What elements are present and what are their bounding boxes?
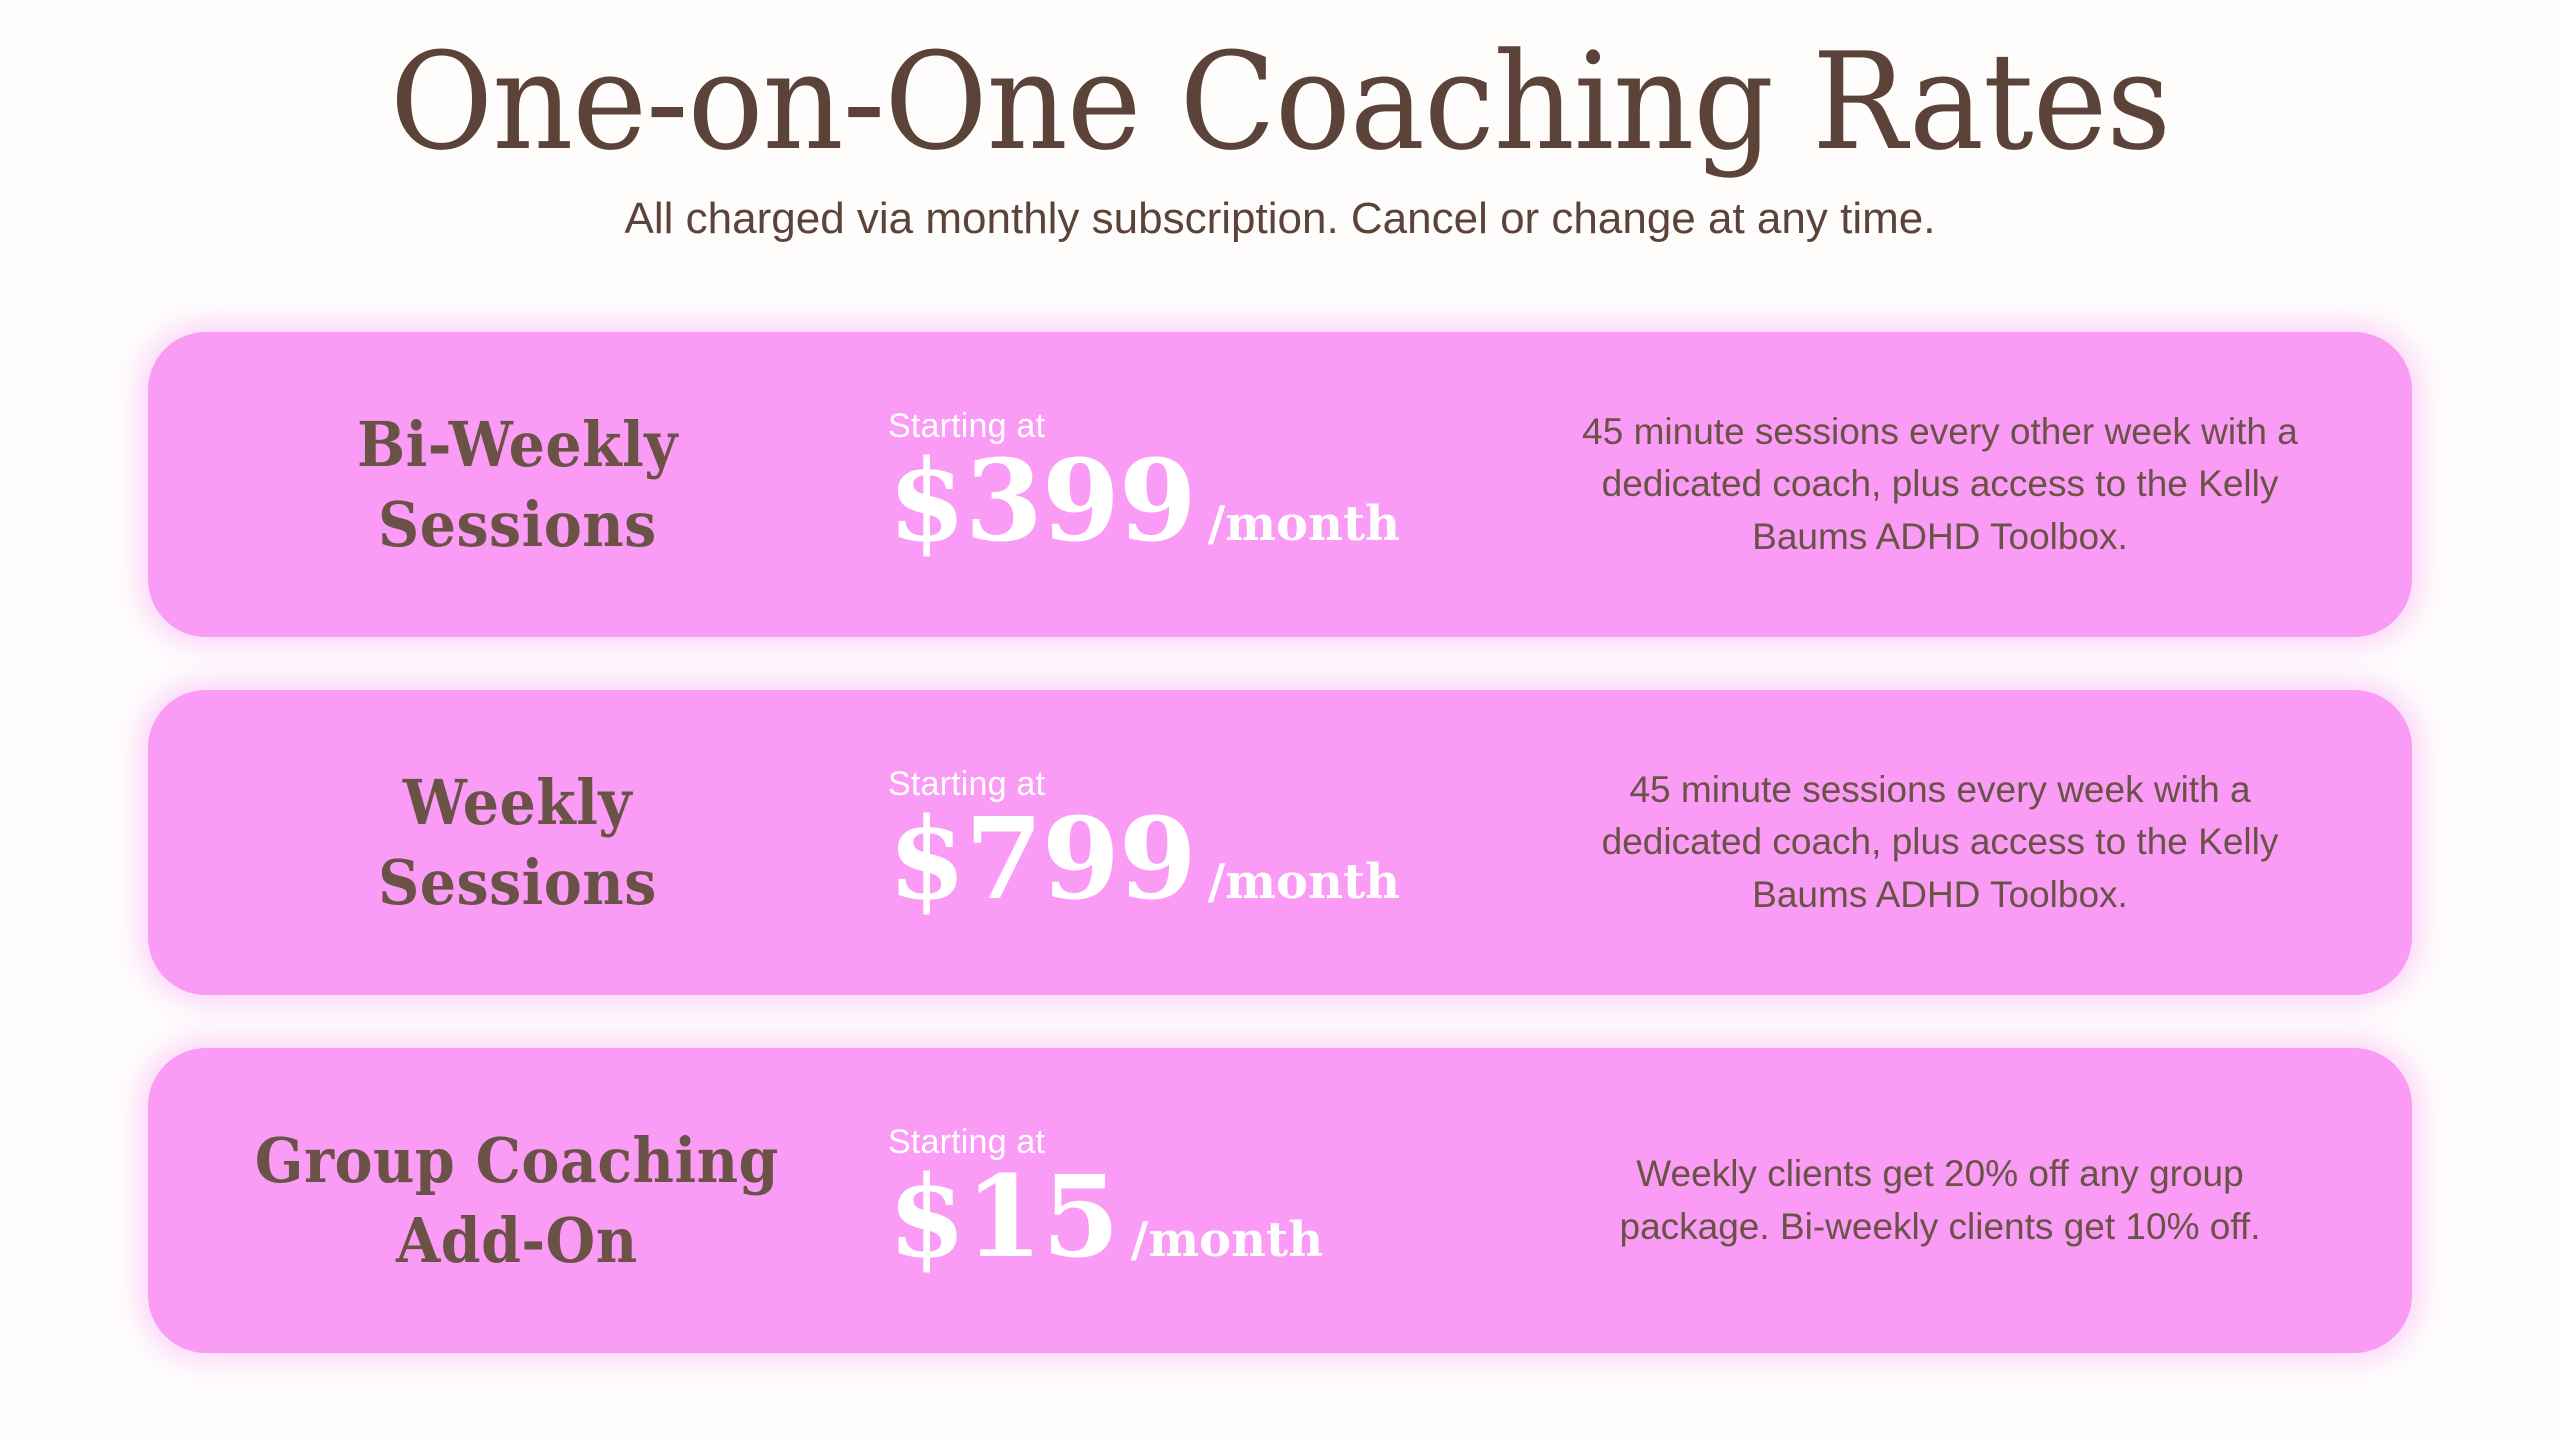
plan-description: Weekly clients get 20% off any group pac… [1560,1148,2320,1253]
plan-price-column: Starting at $799 /month [852,767,1528,917]
page-title: One-on-One Coaching Rates [77,34,2483,171]
price-period: /month [1208,500,1400,548]
plan-description-column: 45 minute sessions every week with a ded… [1528,764,2386,922]
plan-description-column: Weekly clients get 20% off any group pac… [1528,1148,2386,1253]
page-subtitle: All charged via monthly subscription. Ca… [0,193,2560,246]
price-row: $15 /month [888,1161,1528,1275]
price-period: /month [1131,1216,1323,1264]
plan-description: 45 minute sessions every other week with… [1560,406,2320,564]
plan-price-column: Starting at $399 /month [852,409,1528,559]
page-header: One-on-One Coaching Rates All charged vi… [0,0,2560,245]
plan-description-column: 45 minute sessions every other week with… [1528,406,2386,564]
plan-name-column: Group Coaching Add-On [174,1121,852,1280]
plan-name-column: Weekly Sessions [174,763,852,922]
plan-name: Bi-Weekly Sessions [357,405,678,564]
price-row: $799 /month [888,803,1528,917]
pricing-card[interactable]: Bi-Weekly Sessions Starting at $399 /mon… [148,332,2412,637]
plan-name-line-2: Sessions [378,846,657,919]
pricing-page: One-on-One Coaching Rates All charged vi… [0,0,2560,1440]
price-amount: $399 [888,445,1196,559]
plan-description: 45 minute sessions every week with a ded… [1560,764,2320,922]
price-row: $399 /month [888,445,1528,559]
plan-price-column: Starting at $15 /month [852,1125,1528,1275]
plan-name-line-1: Group Coaching [255,1124,779,1197]
price-amount: $15 [888,1161,1119,1275]
price-period: /month [1208,858,1400,906]
plan-name-line-1: Bi-Weekly [357,408,678,481]
plan-name: Group Coaching Add-On [255,1121,779,1280]
pricing-card[interactable]: Group Coaching Add-On Starting at $15 /m… [148,1048,2412,1353]
plan-name-line-2: Add-On [396,1204,638,1277]
plan-name-line-2: Sessions [378,488,657,561]
plan-name-line-1: Weekly [402,766,631,839]
pricing-card[interactable]: Weekly Sessions Starting at $799 /month … [148,690,2412,995]
price-amount: $799 [888,803,1196,917]
pricing-card-list: Bi-Weekly Sessions Starting at $399 /mon… [148,332,2412,1353]
plan-name-column: Bi-Weekly Sessions [174,405,852,564]
plan-name: Weekly Sessions [378,763,657,922]
